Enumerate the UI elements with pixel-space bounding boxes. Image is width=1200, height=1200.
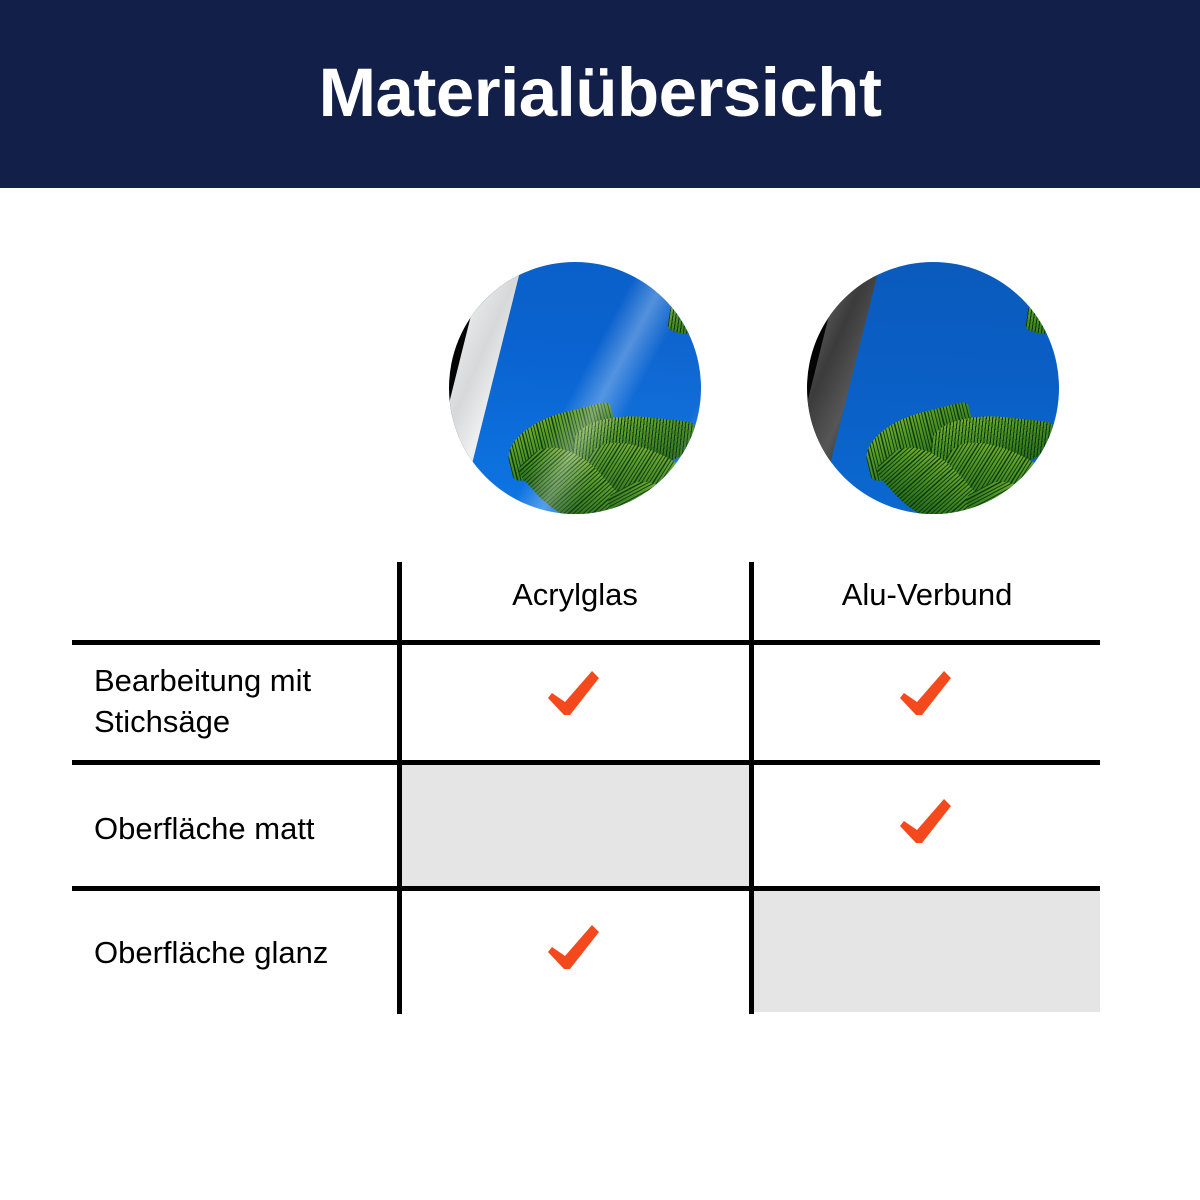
table-row-header-bearbeitung-mit-stichsaege: Bearbeitung mit Stichsäge: [94, 661, 394, 743]
cell-unavailable-shade: [752, 891, 1100, 1012]
panel-body: [449, 262, 701, 514]
specimen-thumbnail-acrylglas[interactable]: [449, 262, 701, 514]
table-rule-column2-left: [749, 562, 754, 1014]
table-rule-column1-left: [397, 562, 402, 1014]
table-grid: Acrylglas Alu-Verbund Bearbeitung mit St…: [72, 562, 1100, 1014]
table-rule-header-bottom: [72, 640, 1100, 645]
page-title: Materialübersicht: [319, 58, 882, 131]
alu-verbund-panel-image: [807, 262, 1059, 514]
check-mark-icon: [897, 666, 953, 722]
check-mark-icon: [897, 794, 953, 850]
table-rule-row1-bottom: [72, 760, 1100, 765]
table-column-header-alu-verbund: Alu-Verbund: [757, 575, 1097, 616]
table-row-header-oberflaeche-glanz: Oberfläche glanz: [94, 933, 394, 974]
cell-unavailable-shade: [400, 765, 752, 891]
material-comparison-table: Acrylglas Alu-Verbund Bearbeitung mit St…: [72, 562, 1100, 1014]
check-mark-icon: [545, 666, 601, 722]
table-rule-row2-bottom: [72, 886, 1100, 891]
panel-body: [807, 262, 1059, 514]
specimen-thumbnail-row: [0, 262, 1200, 522]
table-row-header-oberflaeche-matt: Oberfläche matt: [94, 809, 394, 850]
check-mark-icon: [545, 920, 601, 976]
acrylglas-panel-image: [449, 262, 701, 514]
table-column-header-acrylglas: Acrylglas: [405, 575, 745, 616]
page-header-banner: Materialübersicht: [0, 0, 1200, 188]
specimen-thumbnail-alu-verbund[interactable]: [807, 262, 1059, 514]
